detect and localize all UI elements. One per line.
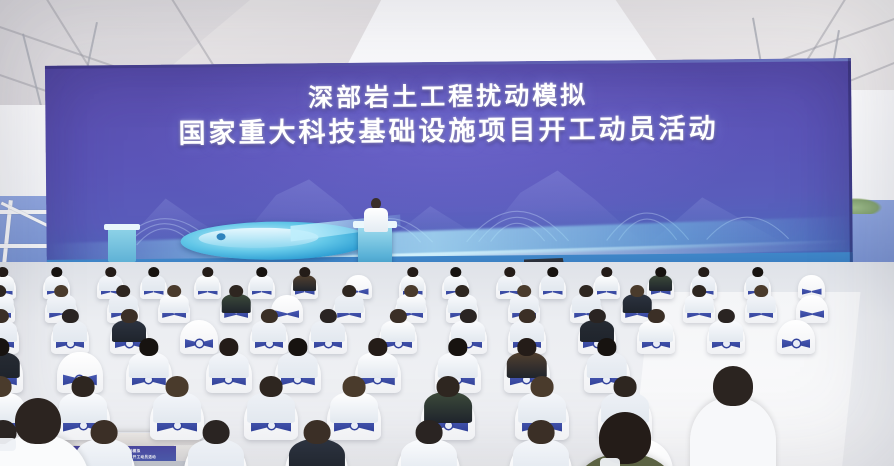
audience-member [747, 285, 776, 316]
audience-member [639, 309, 673, 346]
banner-title: 深部岩土工程扰动模拟 国家重大科技基础设施项目开工动员活动 [45, 78, 852, 151]
audience-member [709, 309, 743, 346]
banner-title-line-2: 国家重大科技基础设施项目开工动员活动 [45, 112, 851, 152]
audience-member [649, 267, 673, 293]
podium-speaker [364, 198, 388, 230]
audience-member [160, 285, 189, 316]
side-lectern [108, 228, 136, 262]
face-mask [600, 458, 620, 466]
broadcast-still: 深部岩土工程扰动模拟 国家重大科技基础设施项目开工动员活动 动员活动 深部岩土工… [0, 0, 894, 466]
foreground-attendee-left [0, 398, 90, 466]
audience-member [401, 420, 457, 466]
audience-member [53, 309, 87, 346]
face-mask [0, 438, 16, 451]
foreground-attendee-olive [566, 412, 684, 466]
chair-bow-sash [782, 338, 810, 349]
foreground-attendee-white [690, 366, 776, 466]
audience-member [289, 420, 345, 466]
audience-chair [796, 295, 828, 324]
banner-title-line-1: 深部岩土工程扰动模拟 [45, 78, 851, 115]
cyan-swoosh-emblem [180, 211, 381, 269]
banner-surface: 深部岩土工程扰动模拟 国家重大科技基础设施项目开工动员活动 [45, 58, 853, 294]
audience-member [513, 420, 569, 466]
audience-member [250, 267, 274, 293]
audience-member [188, 420, 244, 466]
audience-member [209, 338, 249, 382]
audience-member [541, 267, 565, 293]
main-banner: 深部岩土工程扰动模拟 国家重大科技基础设施项目开工动员活动 [45, 58, 853, 294]
chair-bow-sash [800, 310, 824, 319]
audience-member [196, 267, 220, 293]
audience-member [222, 285, 251, 316]
audience-member [293, 267, 317, 293]
